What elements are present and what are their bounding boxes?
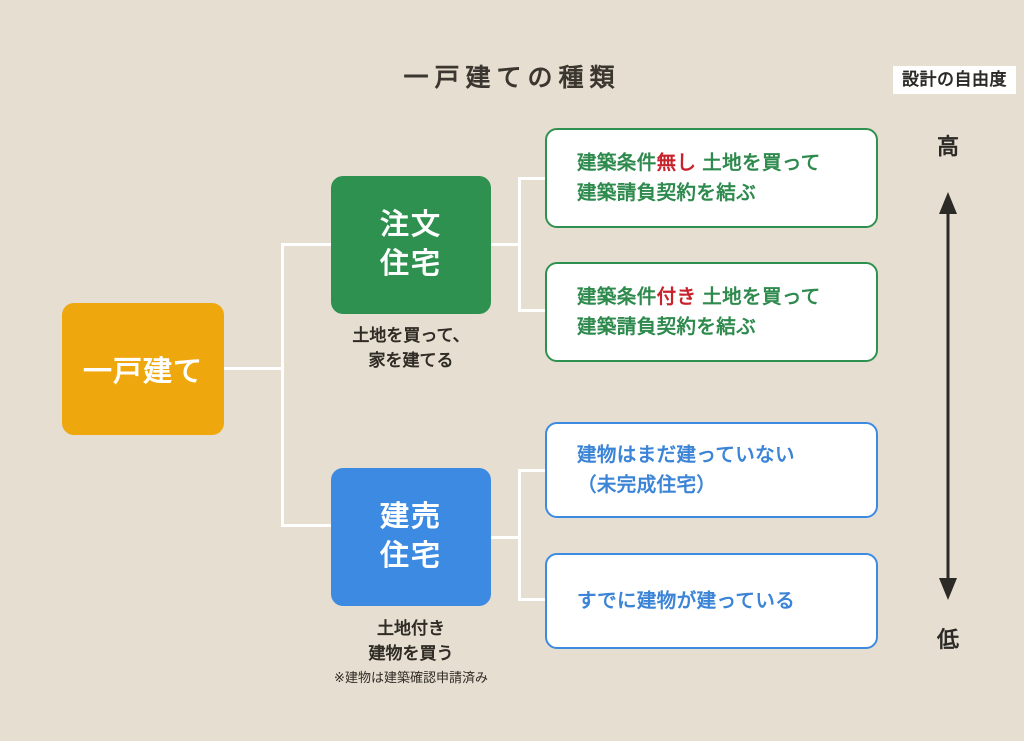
connector-custom-spine [518, 177, 521, 312]
node-custom-house-label-line1: 注文 [380, 209, 442, 241]
card-building-already-built[interactable]: すでに建物が建っている [545, 553, 878, 649]
node-custom-house-label-line2: 住宅 [380, 248, 442, 280]
connector-root-stub [224, 367, 284, 370]
caption-custom-house-line2: 家を建てる [369, 351, 454, 370]
card-2-line1-pre: 建築条件 [577, 286, 657, 308]
card-3-line2: （未完成住宅） [577, 474, 716, 496]
card-with-build-condition-text: 建築条件付き 土地を買って 建築請負契約を結ぶ [577, 282, 821, 342]
card-1-line1-highlight: 無し [657, 152, 697, 174]
diagram-canvas: 一戸建ての種類 設計の自由度 一戸建て 注文 住宅 土地を買って、 家を建てる … [0, 0, 1024, 741]
card-1-line2: 建築請負契約を結ぶ [577, 182, 756, 204]
connector-root-spine [281, 243, 284, 527]
connector-root-to-custom [281, 243, 333, 246]
caption-spec-house-line1: 土地付き [377, 619, 445, 638]
node-root-label: 一戸建て [83, 348, 203, 390]
card-3-line1: 建物はまだ建っていない [577, 444, 795, 466]
card-with-build-condition[interactable]: 建築条件付き 土地を買って 建築請負契約を結ぶ [545, 262, 878, 362]
page-title: 一戸建ての種類 [0, 58, 1024, 94]
card-2-line2: 建築請負契約を結ぶ [577, 316, 756, 338]
caption-custom-house: 土地を買って、 家を建てる [296, 324, 526, 373]
connector-spec-spine [518, 469, 521, 601]
design-freedom-arrow-icon [938, 192, 958, 600]
caption-spec-house-line2: 建物を買う [369, 644, 454, 663]
node-custom-house-label: 注文 住宅 [380, 206, 442, 284]
legend-design-freedom-label: 設計の自由度 [893, 66, 1016, 94]
scale-high-label: 高 [918, 129, 978, 161]
node-spec-house-label-line1: 建売 [380, 501, 442, 533]
caption-spec-house-note: ※建物は建築確認申請済み [296, 669, 526, 688]
card-building-not-built[interactable]: 建物はまだ建っていない （未完成住宅） [545, 422, 878, 518]
node-spec-house-label: 建売 住宅 [380, 498, 442, 576]
connector-spec-stub [489, 536, 521, 539]
card-no-build-condition-text: 建築条件無し 土地を買って 建築請負契約を結ぶ [577, 148, 821, 208]
scale-low-label: 低 [918, 622, 978, 654]
card-building-not-built-text: 建物はまだ建っていない （未完成住宅） [577, 440, 795, 500]
card-building-already-built-text: すでに建物が建っている [577, 586, 795, 616]
node-spec-house[interactable]: 建売 住宅 [331, 468, 491, 606]
card-2-line1-highlight: 付き [657, 286, 697, 308]
node-custom-house[interactable]: 注文 住宅 [331, 176, 491, 314]
connector-custom-stub [489, 243, 521, 246]
node-spec-house-label-line2: 住宅 [380, 540, 442, 572]
card-no-build-condition[interactable]: 建築条件無し 土地を買って 建築請負契約を結ぶ [545, 128, 878, 228]
card-1-line1-pre: 建築条件 [577, 152, 657, 174]
connector-root-to-spec [281, 524, 333, 527]
caption-custom-house-line1: 土地を買って、 [352, 326, 469, 345]
caption-spec-house: 土地付き 建物を買う ※建物は建築確認申請済み [296, 617, 526, 688]
card-1-line1-post: 土地を買って [696, 152, 820, 174]
card-2-line1-post: 土地を買って [696, 286, 820, 308]
node-root-detached-house[interactable]: 一戸建て [62, 303, 224, 435]
card-4-line1: すでに建物が建っている [577, 590, 795, 612]
